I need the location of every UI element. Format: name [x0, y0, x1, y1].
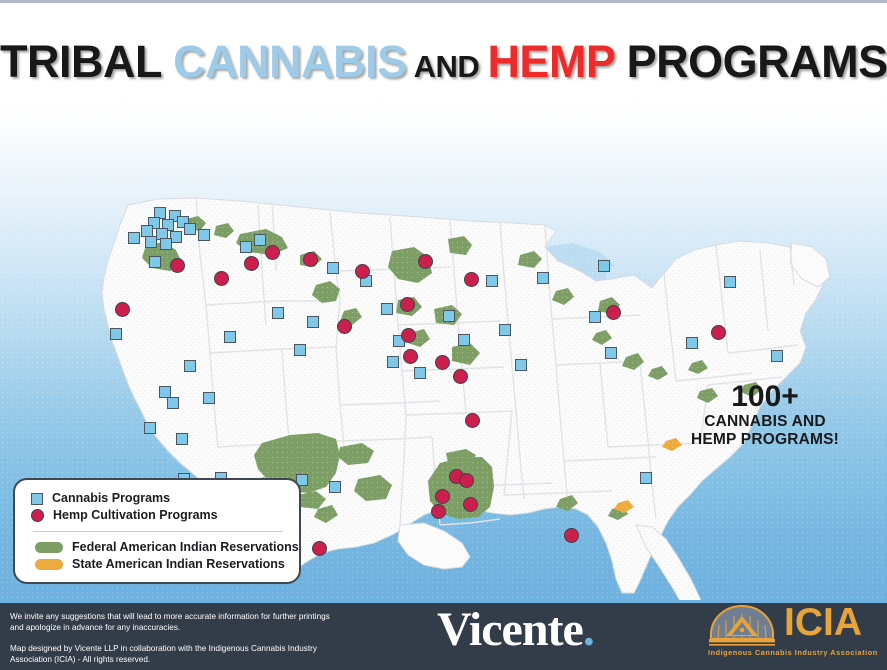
cannabis-program-marker[interactable]: [329, 481, 341, 493]
legend-label-hemp: Hemp Cultivation Programs: [53, 508, 218, 523]
cannabis-program-marker[interactable]: [414, 367, 426, 379]
hemp-program-marker[interactable]: [711, 325, 726, 340]
callout-line-2: HEMP PROGRAMS!: [665, 431, 865, 449]
hemp-program-marker[interactable]: [463, 497, 478, 512]
cannabis-program-marker[interactable]: [443, 310, 455, 322]
hemp-program-marker[interactable]: [265, 245, 280, 260]
hemp-program-marker[interactable]: [453, 369, 468, 384]
cannabis-program-marker[interactable]: [272, 307, 284, 319]
hemp-program-marker[interactable]: [403, 349, 418, 364]
title-part-programs: PROGRAMS: [615, 36, 887, 87]
cannabis-program-marker[interactable]: [640, 472, 652, 484]
icia-tagline: Indigenous Cannabis Industry Association: [708, 648, 878, 657]
vicente-wordmark: Vicente: [437, 603, 583, 656]
hemp-program-marker[interactable]: [303, 252, 318, 267]
program-count-callout: 100+ CANNABIS AND HEMP PROGRAMS!: [665, 381, 865, 449]
cannabis-program-marker[interactable]: [486, 275, 498, 287]
cannabis-program-marker[interactable]: [240, 241, 252, 253]
cannabis-program-marker[interactable]: [224, 331, 236, 343]
cannabis-program-marker[interactable]: [515, 359, 527, 371]
cannabis-program-marker[interactable]: [145, 236, 157, 248]
cannabis-program-marker[interactable]: [598, 260, 610, 272]
title-part-tribal: TRIBAL: [0, 36, 173, 87]
title-part-cannabis: CANNABIS: [173, 36, 407, 87]
cannabis-program-marker[interactable]: [167, 397, 179, 409]
cannabis-program-marker[interactable]: [387, 356, 399, 368]
cannabis-program-marker[interactable]: [160, 238, 172, 250]
hemp-program-marker[interactable]: [401, 328, 416, 343]
federal-reservation-swatch-icon: [35, 542, 63, 553]
cannabis-program-marker[interactable]: [254, 234, 266, 246]
footer-note-line-2: Map designed by Vicente LLP in collabora…: [10, 644, 340, 665]
cannabis-program-marker[interactable]: [458, 334, 470, 346]
cannabis-program-marker[interactable]: [110, 328, 122, 340]
hemp-program-marker[interactable]: [459, 473, 474, 488]
cannabis-program-marker[interactable]: [327, 262, 339, 274]
hemp-program-marker[interactable]: [435, 489, 450, 504]
legend-item-state-reservations[interactable]: State American Indian Reservations: [15, 556, 299, 573]
icia-dome-icon: [706, 603, 778, 649]
hemp-program-marker[interactable]: [564, 528, 579, 543]
cannabis-program-marker[interactable]: [381, 303, 393, 315]
hemp-program-marker[interactable]: [435, 355, 450, 370]
legend-label-state-reservations: State American Indian Reservations: [72, 557, 285, 572]
hemp-program-marker[interactable]: [214, 271, 229, 286]
cannabis-program-marker[interactable]: [307, 316, 319, 328]
map-legend: Cannabis Programs Hemp Cultivation Progr…: [13, 478, 301, 584]
hemp-program-marker[interactable]: [464, 272, 479, 287]
cannabis-program-marker[interactable]: [499, 324, 511, 336]
state-reservation-swatch-icon: [35, 559, 63, 570]
hemp-swatch-icon: [31, 509, 44, 522]
cannabis-swatch-icon: [31, 493, 43, 505]
legend-divider: [33, 531, 283, 532]
cannabis-program-marker[interactable]: [537, 272, 549, 284]
title-text-group: TRIBAL CANNABIS AND HEMP PROGRAMS: [0, 38, 887, 91]
footer-note-line-1: We invite any suggestions that will lead…: [10, 612, 340, 633]
poster-root: TRIBAL CANNABIS AND HEMP PROGRAMS: [0, 0, 887, 670]
cannabis-program-marker[interactable]: [198, 229, 210, 241]
cannabis-program-marker[interactable]: [144, 422, 156, 434]
hemp-program-marker[interactable]: [418, 254, 433, 269]
hemp-program-marker[interactable]: [337, 319, 352, 334]
cannabis-program-marker[interactable]: [184, 360, 196, 372]
page-title: TRIBAL CANNABIS AND HEMP PROGRAMS: [0, 38, 887, 91]
cannabis-program-marker[interactable]: [589, 311, 601, 323]
vicente-dot-icon: .: [583, 603, 594, 656]
cannabis-program-marker[interactable]: [686, 337, 698, 349]
cannabis-program-marker[interactable]: [724, 276, 736, 288]
legend-item-hemp[interactable]: Hemp Cultivation Programs: [15, 507, 299, 524]
hemp-program-marker[interactable]: [431, 504, 446, 519]
top-divider: [0, 0, 887, 3]
hemp-program-marker[interactable]: [465, 413, 480, 428]
cannabis-program-marker[interactable]: [184, 223, 196, 235]
legend-item-cannabis[interactable]: Cannabis Programs: [15, 490, 299, 507]
hemp-program-marker[interactable]: [312, 541, 327, 556]
hemp-program-marker[interactable]: [400, 297, 415, 312]
hemp-program-marker[interactable]: [244, 256, 259, 271]
cannabis-program-marker[interactable]: [605, 347, 617, 359]
cannabis-program-marker[interactable]: [203, 392, 215, 404]
hemp-program-marker[interactable]: [606, 305, 621, 320]
cannabis-program-marker[interactable]: [294, 344, 306, 356]
callout-line-1: CANNABIS AND: [665, 413, 865, 431]
cannabis-program-marker[interactable]: [176, 433, 188, 445]
title-part-and: AND: [407, 49, 488, 84]
legend-label-cannabis: Cannabis Programs: [52, 491, 170, 506]
cannabis-program-marker[interactable]: [128, 232, 140, 244]
legend-label-federal-reservations: Federal American Indian Reservations: [72, 540, 299, 555]
hemp-program-marker[interactable]: [355, 264, 370, 279]
icia-logo[interactable]: ICIA: [706, 603, 862, 649]
cannabis-program-marker[interactable]: [149, 256, 161, 268]
callout-count: 100+: [665, 381, 865, 413]
footer-disclaimer: We invite any suggestions that will lead…: [10, 612, 340, 665]
title-part-hemp: HEMP: [487, 36, 614, 87]
cannabis-program-marker[interactable]: [771, 350, 783, 362]
icia-wordmark: ICIA: [784, 603, 862, 643]
hemp-program-marker[interactable]: [115, 302, 130, 317]
vicente-logo[interactable]: Vicente.: [437, 604, 594, 656]
hemp-program-marker[interactable]: [170, 258, 185, 273]
legend-item-federal-reservations[interactable]: Federal American Indian Reservations: [15, 539, 299, 556]
